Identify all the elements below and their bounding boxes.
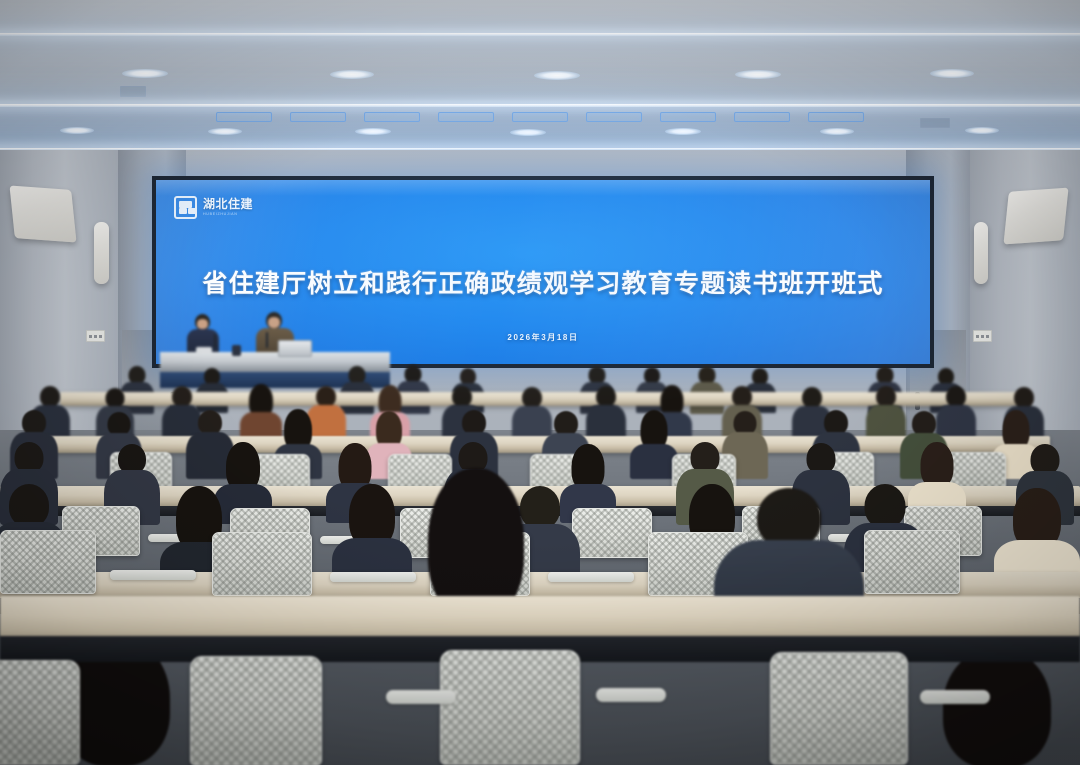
chair-armrest [596, 688, 666, 702]
chair-foreground[interactable] [0, 660, 80, 765]
foreground-row [0, 0, 1080, 765]
chair-foreground[interactable] [770, 652, 908, 765]
chair-armrest [920, 690, 990, 704]
chair-foreground[interactable] [440, 650, 580, 765]
desk-foreground [0, 596, 1080, 640]
chair-foreground[interactable] [190, 656, 322, 765]
attendee-hair [943, 648, 1051, 765]
attendee-foreground [952, 648, 1080, 765]
conference-hall-photo: 湖北住建 HUBEIZHUJIAN 省住建厅树立和践行正确政绩观学习教育专题读书… [0, 0, 1080, 765]
chair-armrest [386, 690, 456, 704]
attendee-head [757, 488, 821, 548]
